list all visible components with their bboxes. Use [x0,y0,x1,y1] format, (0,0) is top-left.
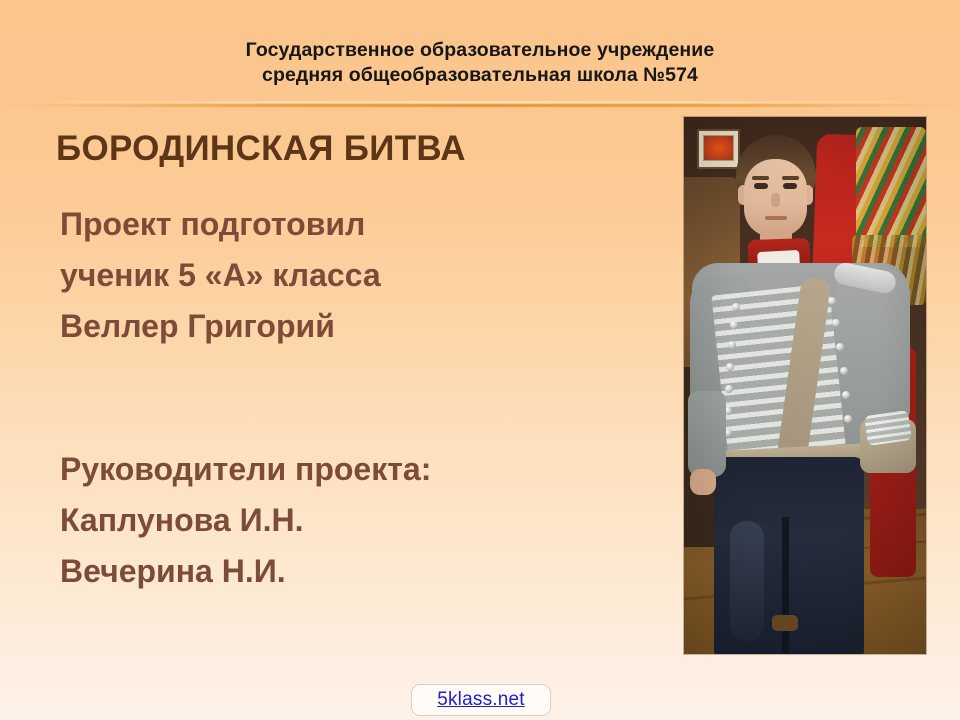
header-divider-highlight [0,101,960,103]
slide-photo [684,117,926,654]
source-badge[interactable]: 5klass.net [411,684,551,716]
authors-line-3: Веллер Григорий [60,301,381,352]
authors-block: Проект подготовил ученик 5 «А» класса Ве… [60,199,381,352]
header-divider [0,104,960,107]
presentation-slide: Государственное образовательное учрежден… [0,0,960,720]
authors-line-1: Проект подготовил [60,199,381,250]
slide-header: Государственное образовательное учрежден… [0,0,960,106]
supervisors-line-3: Вечерина Н.И. [60,546,431,597]
photo-vignette [684,117,926,654]
supervisors-line-1: Руководители проекта: [60,444,431,495]
supervisors-line-2: Каплунова И.Н. [60,495,431,546]
authors-line-2: ученик 5 «А» класса [60,250,381,301]
source-badge-label: 5klass.net [437,689,525,711]
supervisors-block: Руководители проекта: Каплунова И.Н. Веч… [60,444,431,597]
header-line-1: Государственное образовательное учрежден… [0,38,960,63]
header-line-2: средняя общеобразовательная школа №574 [0,63,960,88]
page-title: БОРОДИНСКАЯ БИТВА [56,129,466,169]
